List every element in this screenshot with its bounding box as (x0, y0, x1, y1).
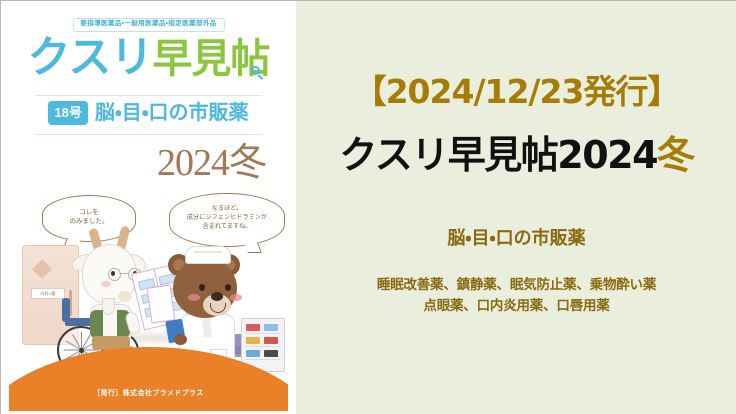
cover-issue-row: 18号脳・目・口の市販薬 (9, 101, 288, 125)
goat-eye-left (111, 271, 115, 276)
cover-category-pill: 要指導医薬品・一般用医薬品・指定医薬部外品 (72, 18, 224, 32)
bear-nose (211, 292, 223, 301)
magazine-cover-image: 要指導医薬品・一般用医薬品・指定医薬部外品 クスリ早見帖 18号脳・目・口の市販… (9, 7, 288, 411)
goat-glasses-bridge (119, 273, 128, 274)
cover-season: 2024冬 (157, 143, 266, 182)
cover-divider-bottom (35, 134, 262, 135)
goat-muzzle (118, 291, 132, 302)
cover-logo: クスリ早見帖 (9, 37, 288, 80)
page-title-season: 冬 (657, 133, 694, 177)
release-date: 【2024/12/23発行】 (296, 75, 736, 108)
page-title-main: クスリ早見帖2024 (339, 133, 657, 177)
cover-season-kanji: 冬 (229, 140, 266, 184)
bear-eye-right (225, 284, 231, 291)
page-title: クスリ早見帖2024冬 (296, 136, 736, 174)
speech-bubble-patient-line1: コレを (43, 208, 135, 217)
bear-eye-left (199, 284, 205, 291)
goat-cheek-left (101, 281, 111, 287)
nurse-cap-icon (185, 246, 231, 264)
cover-publisher: ［発行］株式会社プラメドプラス (9, 387, 288, 397)
cover-logo-kusuri: クスリ (28, 33, 153, 83)
bear-cheek-right (230, 294, 242, 301)
promo-banner: 要指導医薬品・一般用医薬品・指定医薬部外品 クスリ早見帖 18号脳・目・口の市販… (0, 0, 736, 414)
goat-beard (102, 298, 115, 315)
bear-cheek-left (188, 294, 200, 301)
drug-category-list: 睡眠改善薬、鎮静薬、眠気防止薬、乗物酔い薬 点眼薬、口内炎用薬、口唇用薬 (296, 275, 736, 317)
magnifier-icon (251, 66, 264, 79)
door-diamond-ornament (32, 259, 52, 279)
cover-issue-badge: 18号 (48, 101, 87, 125)
cover-divider-top (35, 95, 262, 96)
magazine-cover-pane: 要指導医薬品・一般用医薬品・指定医薬部外品 クスリ早見帖 18号脳・目・口の市販… (1, 1, 296, 414)
drug-category-line: 点眼薬、口内炎用薬、口唇用薬 (296, 296, 736, 317)
cover-season-year: 2024 (157, 142, 229, 184)
goat-head (82, 244, 137, 304)
bear-head (173, 258, 237, 318)
bear-paw (174, 334, 187, 345)
page-subtitle: 脳・目・口の市販薬 (296, 229, 736, 247)
info-pane: 【2024/12/23発行】 クスリ早見帖2024冬 脳・目・口の市販薬 睡眠改… (296, 1, 736, 414)
cover-issue-topic: 脳・目・口の市販薬 (95, 103, 249, 123)
speech-bubble-pharmacist-line3: 含まれてますね。 (170, 223, 284, 232)
drug-category-line: 睡眠改善薬、鎮静薬、眠気防止薬、乗物酔い薬 (296, 275, 736, 296)
speech-bubble-pharmacist-line1: なるほど。 (170, 205, 284, 214)
door-room-plate: 内科1番 (31, 288, 65, 299)
speech-bubble-patient-line2: のみました。 (43, 217, 135, 226)
speech-bubble-pharmacist-line2: 成分にジフェンヒドラミンが (170, 214, 284, 223)
